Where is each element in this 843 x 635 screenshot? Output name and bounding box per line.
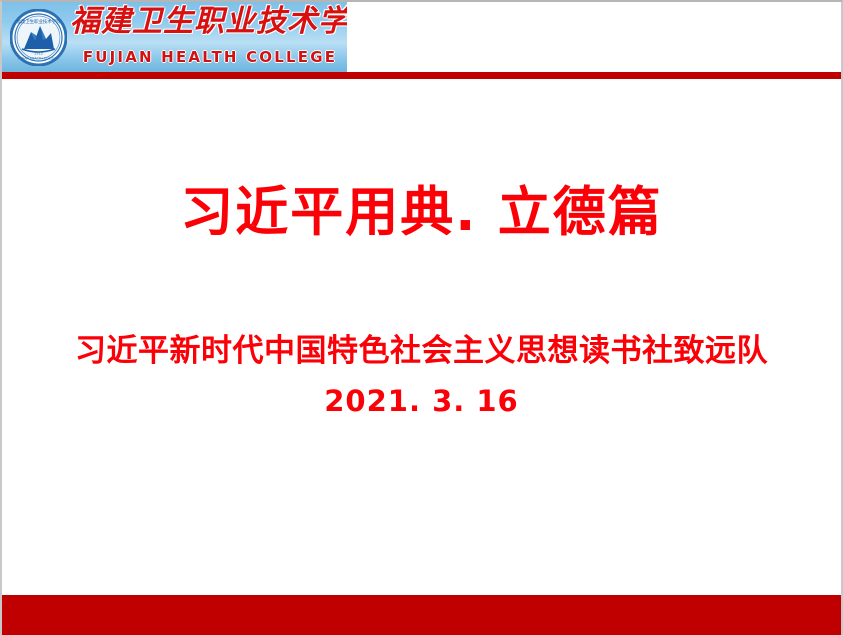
presentation-slide: 福建卫生职业技术学院 FUJIAN HEALTH COLLEGE 1912 福建… <box>0 0 843 635</box>
svg-text:FUJIAN HEALTH COLLEGE: FUJIAN HEALTH COLLEGE <box>18 57 59 61</box>
slide-title: 习近平用典. 立德篇 <box>2 182 841 244</box>
slide-date: 2021. 3. 16 <box>2 382 841 420</box>
svg-text:福建卫生职业技术学院: 福建卫生职业技术学院 <box>17 18 62 25</box>
banner-text-block: 福建卫生职业技术学院 FUJIAN HEALTH COLLEGE <box>70 4 345 70</box>
college-banner: 福建卫生职业技术学院 FUJIAN HEALTH COLLEGE 1912 福建… <box>2 2 347 72</box>
institution-name-cn: 福建卫生职业技术学院 <box>70 5 345 39</box>
header-divider-rule <box>2 72 841 79</box>
slide-body: 习近平用典. 立德篇 习近平新时代中国特色社会主义思想读书社致远队 2021. … <box>2 79 841 592</box>
svg-text:1912: 1912 <box>34 52 43 56</box>
college-seal-icon: 福建卫生职业技术学院 FUJIAN HEALTH COLLEGE 1912 <box>10 9 67 66</box>
institution-name-en: FUJIAN HEALTH COLLEGE <box>71 48 347 66</box>
slide-subtitle: 习近平新时代中国特色社会主义思想读书社致远队 <box>2 331 841 371</box>
footer-bar <box>2 595 841 635</box>
